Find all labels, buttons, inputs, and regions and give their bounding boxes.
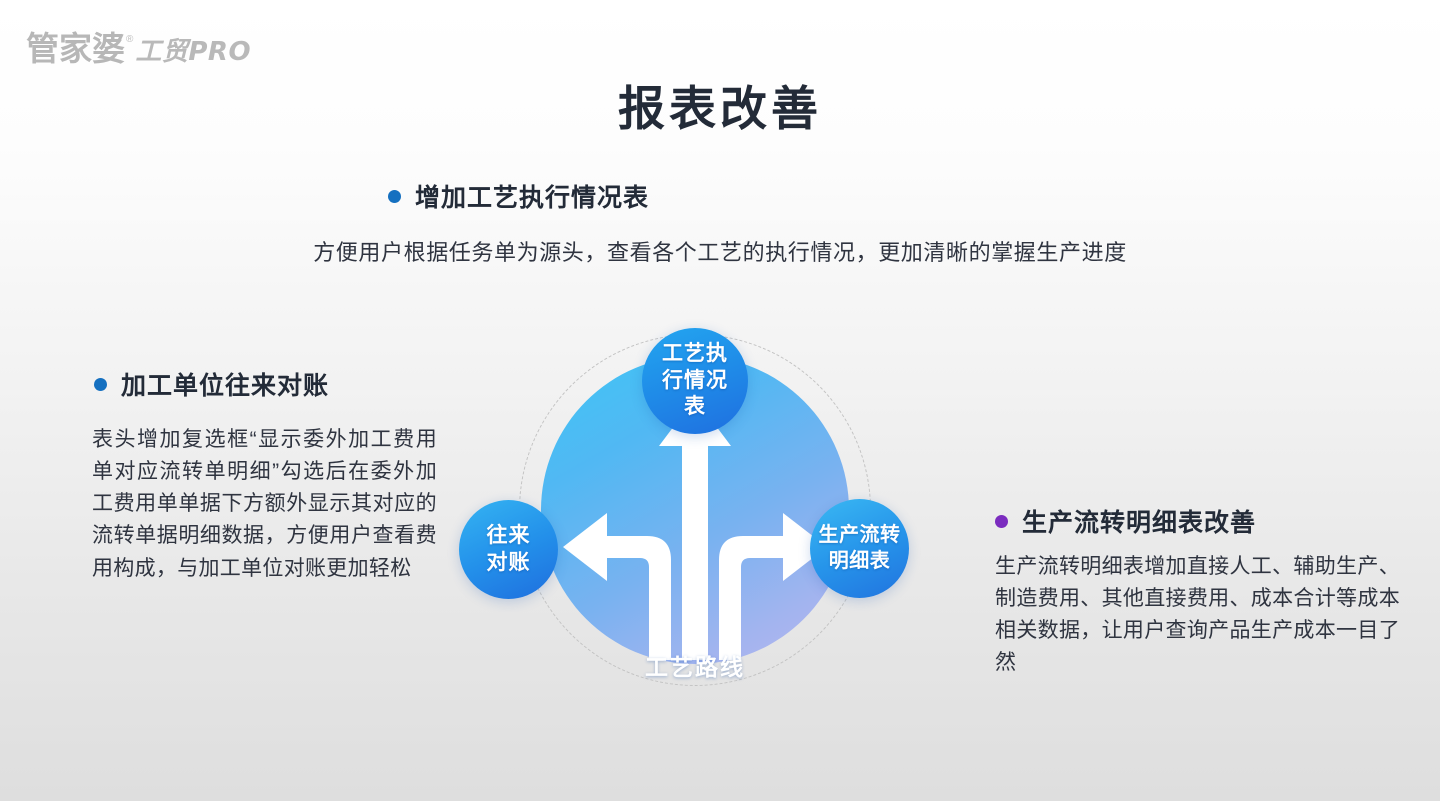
diagram-node-top[interactable]: 工艺执 行情况 表 xyxy=(642,328,748,434)
section-right-heading: 生产流转明细表改善 xyxy=(995,503,1400,539)
brand-logo-cn: 管家婆 xyxy=(26,32,125,65)
diagram-node-left[interactable]: 往来 对账 xyxy=(459,500,558,599)
diagram-bottom-label: 工艺路线 xyxy=(455,648,935,682)
page-title: 报表改善 xyxy=(0,83,1440,135)
diagram-node-right-line2: 明细表 xyxy=(819,549,901,575)
brand-logo: 管家婆 ® 工贸PRO xyxy=(26,32,251,65)
section-left-heading: 加工单位往来对账 xyxy=(92,366,437,402)
section-top-description: 方便用户根据任务单为源头，查看各个工艺的执行情况，更加清晰的掌握生产进度 xyxy=(0,236,1440,269)
diagram-node-left-line2: 对账 xyxy=(487,550,531,577)
section-right-heading-label: 生产流转明细表改善 xyxy=(1022,503,1256,539)
section-top-heading: 增加工艺执行情况表 xyxy=(388,178,649,214)
section-left-body: 表头增加复选框“显示委外加工费用单对应流转单明细”勾选后在委外加工费用单单据下方… xyxy=(92,424,437,585)
diagram-node-top-line2: 行情况 xyxy=(662,368,728,395)
diagram-node-right-line1: 生产流转 xyxy=(819,523,901,549)
process-diagram: 工艺执 行情况 表 往来 对账 生产流转 明细表 工艺路线 xyxy=(455,318,935,698)
section-right-body: 生产流转明细表增加直接人工、辅助生产、制造费用、其他直接费用、成本合计等成本相关… xyxy=(995,551,1400,680)
bullet-dot-icon xyxy=(995,515,1008,528)
section-top: 增加工艺执行情况表 xyxy=(388,178,649,214)
bullet-dot-icon xyxy=(94,378,107,391)
section-right: 生产流转明细表改善 生产流转明细表增加直接人工、辅助生产、制造费用、其他直接费用… xyxy=(995,503,1400,680)
diagram-node-left-line1: 往来 xyxy=(487,523,531,550)
bullet-dot-icon xyxy=(388,190,401,203)
brand-logo-en: 工贸PRO xyxy=(135,39,251,65)
diagram-node-top-line3: 表 xyxy=(662,394,728,421)
section-top-heading-label: 增加工艺执行情况表 xyxy=(415,178,649,214)
section-left-heading-label: 加工单位往来对账 xyxy=(121,366,329,402)
diagram-node-top-line1: 工艺执 xyxy=(662,341,728,368)
registered-trademark-icon: ® xyxy=(126,35,133,45)
section-left: 加工单位往来对账 表头增加复选框“显示委外加工费用单对应流转单明细”勾选后在委外… xyxy=(92,366,437,585)
diagram-node-right[interactable]: 生产流转 明细表 xyxy=(810,499,909,598)
